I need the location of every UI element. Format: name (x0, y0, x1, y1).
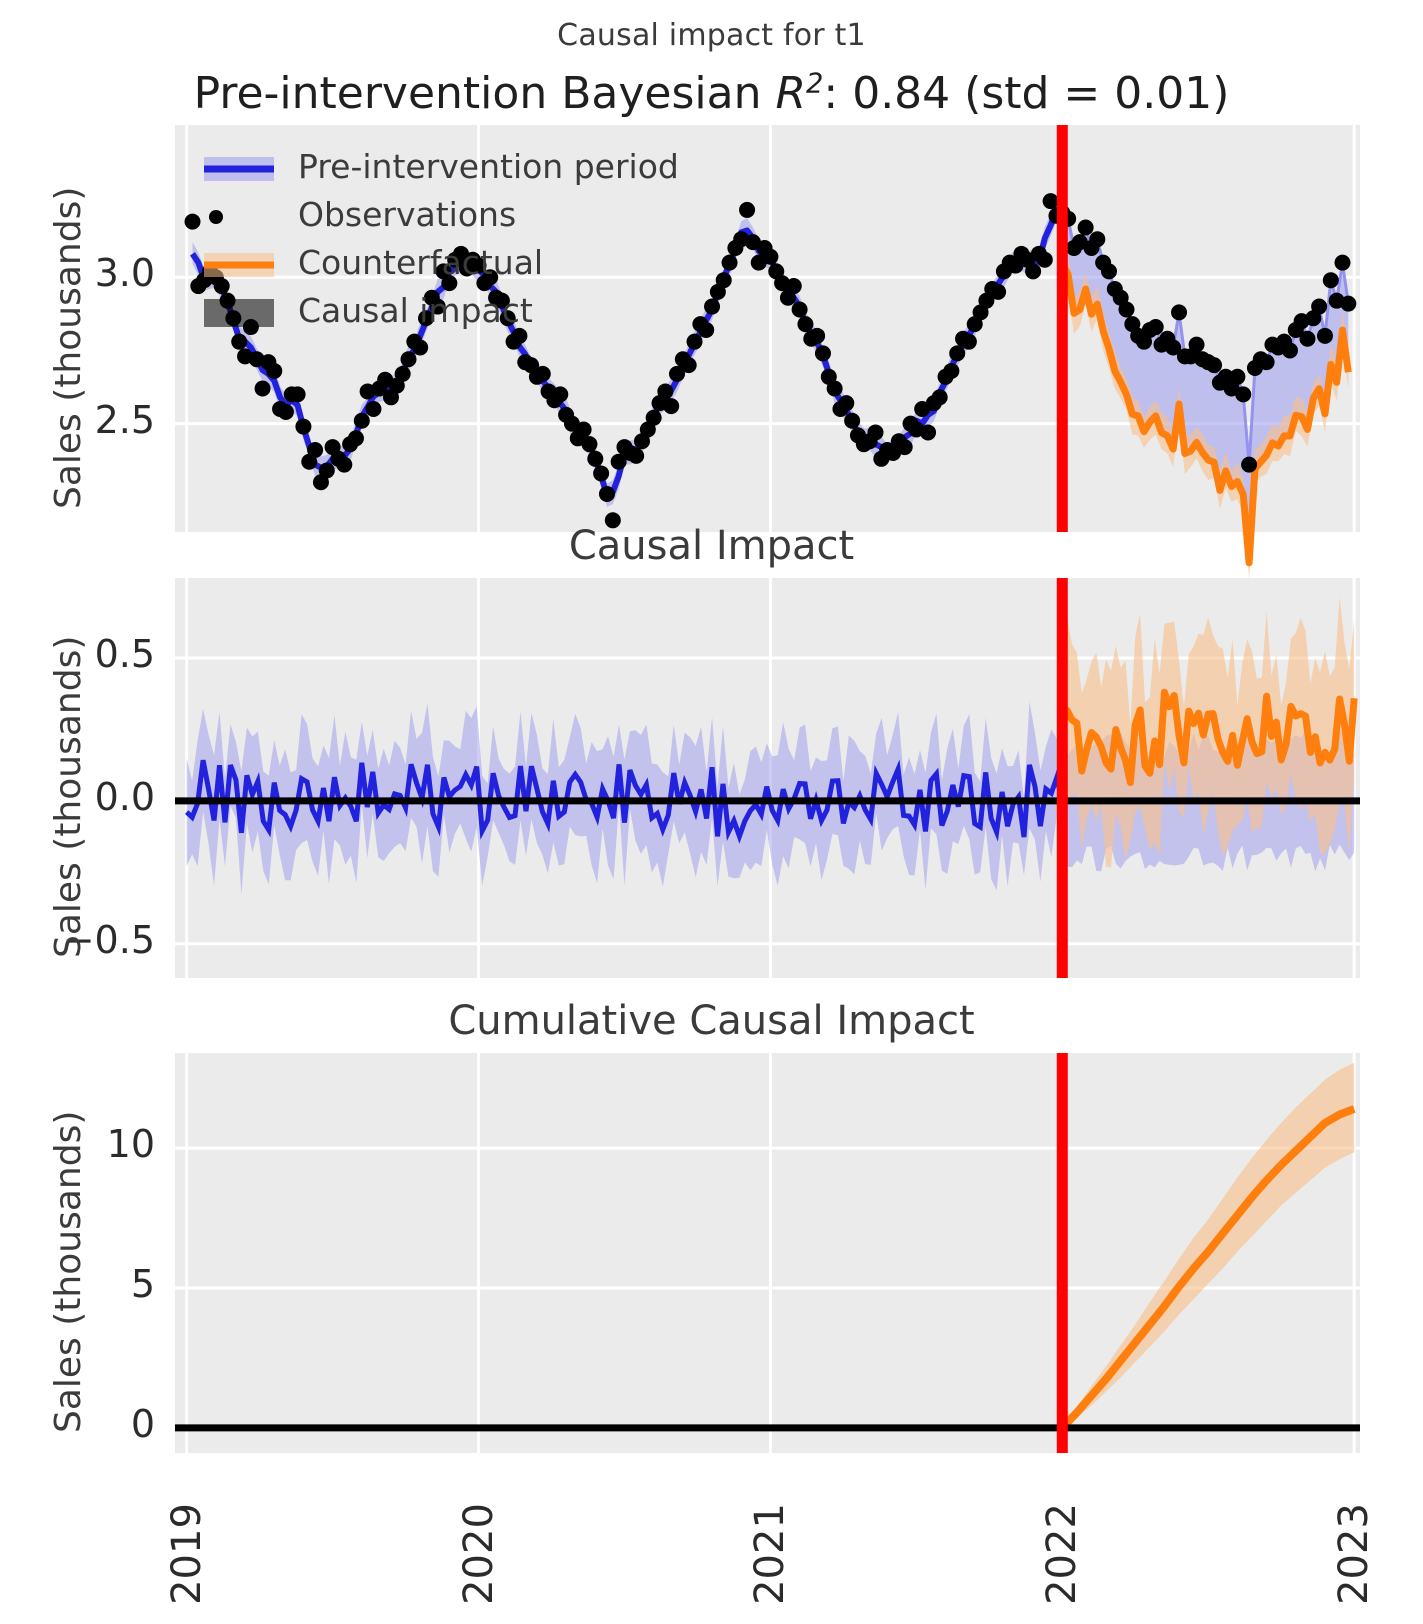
xtick-label-0: 2019 (164, 1484, 210, 1624)
legend-marker-band (202, 293, 276, 333)
xtick-label-2: 2021 (747, 1484, 793, 1624)
observation-point (786, 278, 802, 294)
observation-point (681, 357, 697, 373)
observation-point (1334, 255, 1350, 271)
legend-marker-line-with-band (202, 149, 276, 189)
observation-point (278, 404, 294, 420)
xtick-label-1: 2020 (456, 1484, 502, 1624)
figure-main-title: Pre-intervention Bayesian R2: 0.84 (std … (0, 68, 1423, 119)
observation-point (1323, 272, 1339, 288)
legend-band (204, 299, 274, 327)
legend-marker-dot (202, 197, 276, 237)
yaxis-label-1: Sales (thousands) (48, 186, 89, 508)
observation-point (185, 214, 201, 230)
observation-point (348, 430, 364, 446)
observation-point (657, 383, 673, 399)
observation-point (792, 301, 808, 317)
observation-point (552, 386, 568, 402)
observation-point (599, 486, 615, 502)
observation-point (511, 328, 527, 344)
observation-point (809, 328, 825, 344)
legend-label-0: Pre-intervention period (298, 147, 679, 186)
observation-point (290, 386, 306, 402)
observation-point (576, 422, 592, 438)
observation-point (1119, 301, 1135, 317)
observation-point (395, 366, 411, 382)
observation-point (932, 389, 948, 405)
observation-point (867, 424, 883, 440)
observation-point (698, 322, 714, 338)
yaxis-label-3: Sales (thousands) (48, 1111, 89, 1433)
legend-marker-line-with-band (202, 245, 276, 285)
xtick-label-3: 2022 (1039, 1484, 1085, 1624)
observation-point (401, 351, 417, 367)
observation-point (646, 410, 662, 426)
observation-point (949, 345, 965, 361)
observation-point (722, 255, 738, 271)
observation-point (1259, 354, 1275, 370)
observation-point (231, 334, 247, 350)
observation-point (1148, 319, 1164, 335)
observation-point (943, 363, 959, 379)
observation-point (797, 316, 813, 332)
observation-point (844, 413, 860, 429)
observation-point (827, 381, 843, 397)
observation-point (1241, 457, 1257, 473)
legend-label-3: Causal impact (298, 291, 533, 330)
observation-point (319, 463, 335, 479)
yaxis-label-2: Sales (thousands) (48, 636, 89, 958)
main-title-prefix: Pre-intervention Bayesian (194, 68, 776, 119)
observation-point (581, 436, 597, 452)
observation-point (1229, 369, 1245, 385)
observation-point (1299, 331, 1315, 347)
observation-point (1101, 263, 1117, 279)
main-title-exponent: 2 (806, 68, 823, 99)
observation-point (961, 334, 977, 350)
observation-point (897, 439, 913, 455)
legend-label-2: Counterfactual (298, 243, 543, 282)
observation-point (1189, 337, 1205, 353)
observation-point (1311, 299, 1327, 315)
observation-point (1282, 342, 1298, 358)
observation-point (1025, 263, 1041, 279)
observation-point (815, 345, 831, 361)
observation-point (336, 457, 352, 473)
figure-suptitle: Causal impact for t1 (0, 18, 1423, 53)
legend-label-1: Observations (298, 195, 516, 234)
observation-point (1078, 219, 1094, 235)
observation-point (739, 202, 755, 218)
observation-point (1171, 304, 1187, 320)
observation-point (687, 334, 703, 350)
observation-point (1089, 231, 1105, 247)
observation-point (587, 451, 603, 467)
observation-point (255, 381, 271, 397)
observation-point (1206, 357, 1222, 373)
observation-point (716, 272, 732, 288)
observation-point (1037, 252, 1053, 268)
observation-point (1317, 328, 1333, 344)
observation-point (295, 419, 311, 435)
panel-2-title: Causal Impact (0, 523, 1423, 569)
observation-point (365, 401, 381, 417)
observation-point (628, 448, 644, 464)
observation-point (663, 398, 679, 414)
panel-3-background (175, 1053, 1360, 1453)
observation-point (920, 424, 936, 440)
main-title-symbol: R (775, 68, 806, 119)
observation-point (1340, 296, 1356, 312)
observation-point (1043, 193, 1059, 209)
observation-point (704, 299, 720, 315)
observation-point (354, 413, 370, 429)
observation-point (412, 340, 428, 356)
observation-point (838, 395, 854, 411)
observation-point (266, 363, 282, 379)
panel-3-title: Cumulative Causal Impact (0, 998, 1423, 1044)
observation-point (762, 249, 778, 265)
observation-point (307, 442, 323, 458)
observation-point (1235, 386, 1251, 402)
legend-dot (209, 210, 223, 224)
main-title-suffix: : 0.84 (std = 0.01) (823, 68, 1229, 119)
observation-point (535, 366, 551, 382)
xtick-label-4: 2023 (1331, 1484, 1377, 1624)
observation-point (593, 465, 609, 481)
causal-impact-figure (0, 0, 1423, 1623)
observation-point (990, 284, 1006, 300)
